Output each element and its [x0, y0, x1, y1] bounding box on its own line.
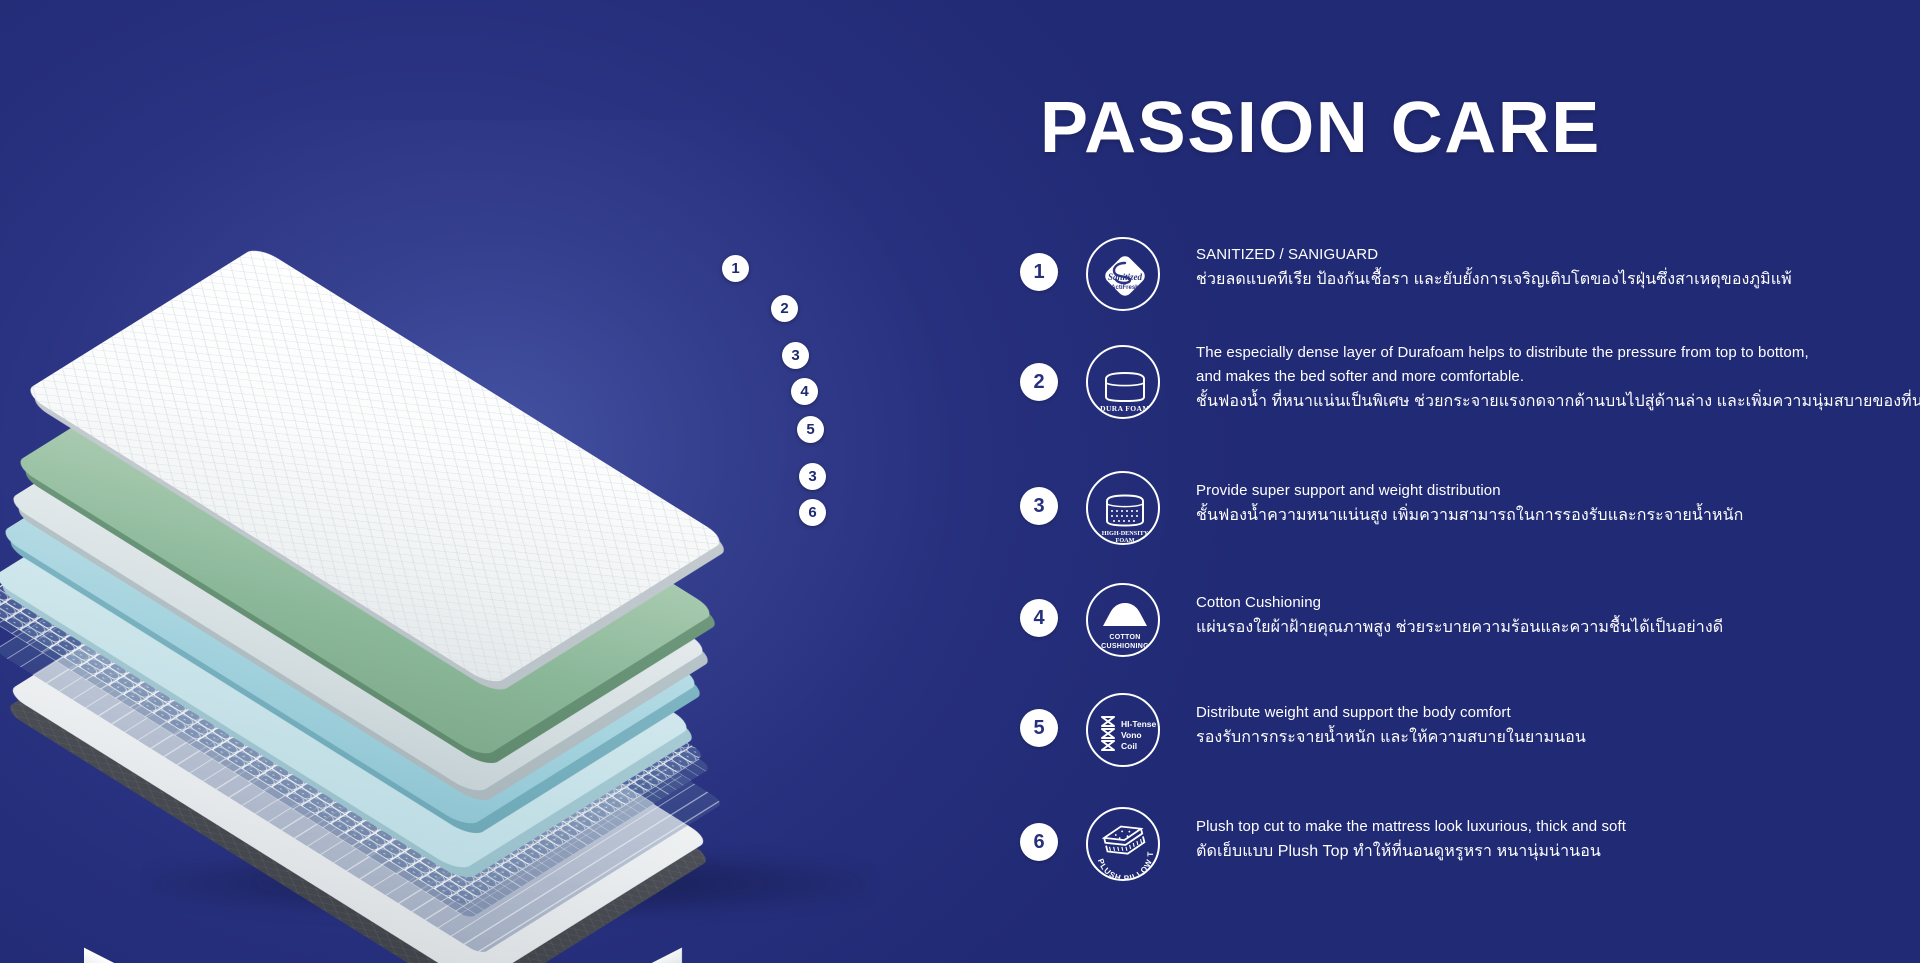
- feature-4-th-line-1: แผ่นรองใยผ้าฝ้ายคุณภาพสูง ช่วยระบายความร…: [1196, 615, 1723, 641]
- infographic-canvas: Vono PASSION CARE: [0, 0, 1920, 963]
- feature-1-th-line-1: ช่วยลดแบคทีเรีย ป้องกันเชื้อรา และยับยั้…: [1196, 267, 1792, 293]
- feature-2-th-line-1: ชั้นฟองน้ำ ที่หนาแน่นเป็นพิเศษ ช่วยกระจา…: [1196, 389, 1920, 415]
- layer-callout-marker-2: 2: [771, 295, 798, 322]
- feature-4-en-line-1: Cotton Cushioning: [1196, 591, 1723, 615]
- sanitized-actifresh-icon: [1086, 237, 1160, 311]
- layer-callout-marker-3: 3: [782, 342, 809, 369]
- feature-row-4: 4Cotton Cushioningแผ่นรองใยผ้าฝ้ายคุณภาพ…: [1020, 583, 1920, 693]
- dura-foam-icon: [1086, 345, 1160, 419]
- feature-number-badge-3: 3: [1020, 487, 1058, 525]
- layer-callout-marker-4: 4: [791, 378, 818, 405]
- feature-row-6: 6Plush top cut to make the mattress look…: [1020, 807, 1920, 917]
- feature-row-3: 3Provide super support and weight distri…: [1020, 471, 1920, 583]
- hi-tense-vono-coil-icon: [1086, 693, 1160, 767]
- feature-2-en-line-1: The especially dense layer of Durafoam h…: [1196, 341, 1920, 365]
- feature-text-1: SANITIZED / SANIGUARDช่วยลดแบคทีเรีย ป้อ…: [1196, 243, 1792, 293]
- feature-text-5: Distribute weight and support the body c…: [1196, 693, 1586, 751]
- page-title: PASSION CARE: [1040, 92, 1601, 164]
- feature-3-th-line-1: ชั้นฟองน้ำความหนาแน่นสูง เพิ่มความสามารถ…: [1196, 503, 1743, 529]
- feature-1-en-line-1: SANITIZED / SANIGUARD: [1196, 243, 1792, 267]
- feature-row-5: 5Distribute weight and support the body …: [1020, 693, 1920, 807]
- feature-number-badge-1: 1: [1020, 253, 1058, 291]
- cotton-cushioning-icon: [1086, 583, 1160, 657]
- feature-6-en-line-1: Plush top cut to make the mattress look …: [1196, 815, 1626, 839]
- layer-callout-marker-6: 3: [799, 463, 826, 490]
- plush-pillow-top-icon: [1086, 807, 1160, 881]
- mattress-exploded-illustration: Vono PASSION CARE: [0, 0, 960, 963]
- feature-row-2: 2The especially dense layer of Durafoam …: [1020, 341, 1920, 471]
- layer-callout-marker-5: 5: [797, 416, 824, 443]
- feature-2-en-line-2: and makes the bed softer and more comfor…: [1196, 365, 1920, 389]
- feature-5-en-line-1: Distribute weight and support the body c…: [1196, 701, 1586, 725]
- feature-text-3: Provide super support and weight distrib…: [1196, 471, 1743, 529]
- feature-number-badge-2: 2: [1020, 363, 1058, 401]
- feature-number-badge-6: 6: [1020, 823, 1058, 861]
- feature-number-badge-4: 4: [1020, 599, 1058, 637]
- high-density-foam-icon: [1086, 471, 1160, 545]
- feature-text-4: Cotton Cushioningแผ่นรองใยผ้าฝ้ายคุณภาพส…: [1196, 583, 1723, 641]
- feature-3-en-line-1: Provide super support and weight distrib…: [1196, 479, 1743, 503]
- layer-callout-marker-1: 1: [722, 255, 749, 282]
- content-panel: PASSION CARE 1SANITIZED / SANIGUARDช่วยล…: [1020, 0, 1920, 963]
- feature-6-th-line-1: ตัดเย็บแบบ Plush Top ทำให้ที่นอนดูหรูหรา…: [1196, 839, 1626, 865]
- feature-5-th-line-1: รองรับการกระจายน้ำหนัก และให้ความสบายในย…: [1196, 725, 1586, 751]
- feature-list: 1SANITIZED / SANIGUARDช่วยลดแบคทีเรีย ป้…: [1020, 243, 1920, 917]
- feature-text-2: The especially dense layer of Durafoam h…: [1196, 341, 1920, 415]
- feature-number-badge-5: 5: [1020, 709, 1058, 747]
- feature-row-1: 1SANITIZED / SANIGUARDช่วยลดแบคทีเรีย ป้…: [1020, 243, 1920, 341]
- layer-callout-marker-7: 6: [799, 499, 826, 526]
- feature-text-6: Plush top cut to make the mattress look …: [1196, 807, 1626, 865]
- base-piping-left: [84, 948, 384, 963]
